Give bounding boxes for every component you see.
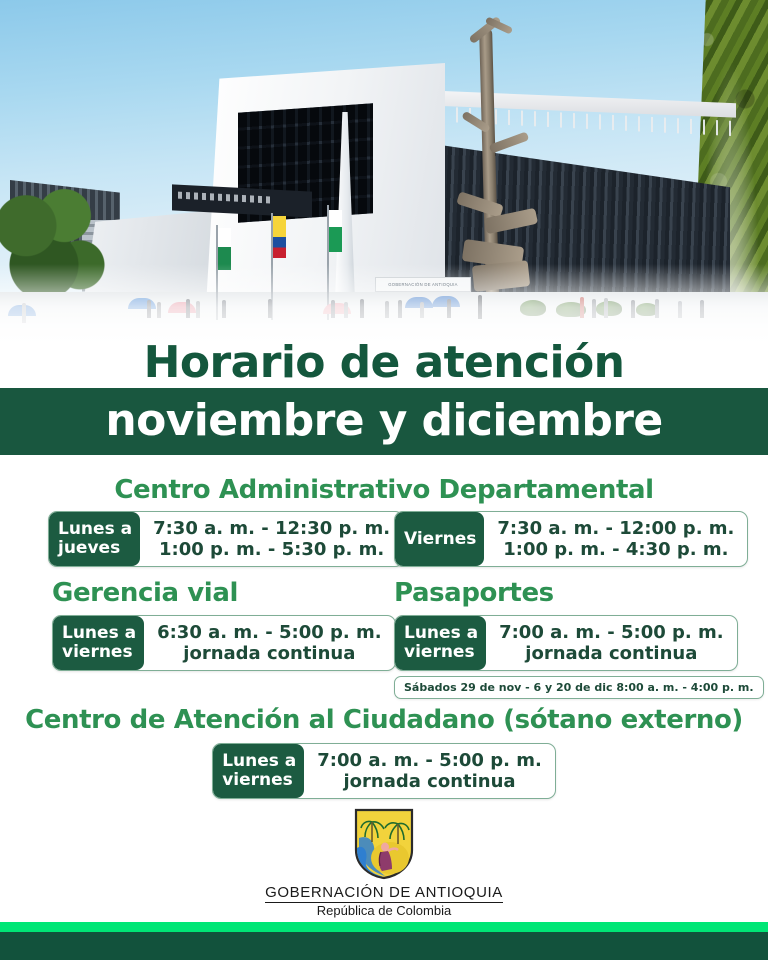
badge-hours-value: 7:00 a. m. - 5:00 p. m. jornada continua [486,616,737,670]
title-line-2: noviembre y diciembre [0,390,768,452]
section-heading-centro-de-atencion-al-ciudadano: Centro de Atención al Ciudadano (sótano … [0,705,768,735]
header-photo: GOBERNACIÓN DE ANTIOQUIA [0,0,768,360]
schedule-badge-centro-atencion-ciudadano: Lunes a viernes 7:00 a. m. - 5:00 p. m. … [212,743,556,799]
schedule-badge-gerencia-vial: Lunes a viernes 6:30 a. m. - 5:00 p. m. … [52,615,396,671]
section-heading-gerencia-vial: Gerencia vial [52,578,396,608]
badge-hours-value: 6:30 a. m. - 5:00 p. m. jornada continua [144,616,395,670]
section-heading-pasaportes: Pasaportes [394,578,764,608]
saturday-note: Sábados 29 de nov - 6 y 20 de dic 8:00 a… [394,676,764,699]
badge-hours-value: 7:30 a. m. - 12:30 p. m. 1:00 p. m. - 5:… [140,512,403,566]
badge-day-label: Lunes a jueves [49,512,140,566]
section-heading-centro-administrativo-departamental: Centro Administrativo Departamental [0,475,768,505]
badge-day-label: Lunes a viernes [395,616,486,670]
section-centro-de-atencion-al-ciudadano: Lunes a viernes 7:00 a. m. - 5:00 p. m. … [0,743,768,799]
badge-hours-value: 7:00 a. m. - 5:00 p. m. jornada continua [304,744,555,798]
badge-day-label: Viernes [395,512,484,566]
flag-colombia [273,216,286,258]
footer-country: República de Colombia [0,903,768,918]
poster-title: Horario de atención [0,338,768,388]
sculpture-branch [456,191,504,218]
schedule-badge-viernes: Viernes 7:30 a. m. - 12:00 p. m. 1:00 p.… [394,511,748,567]
footer-bright-green-bar [0,922,768,932]
badge-day-label: Lunes a viernes [213,744,304,798]
section-pasaportes: Pasaportes Lunes a viernes 7:00 a. m. - … [394,578,764,699]
poster: GOBERNACIÓN DE ANTIOQUIA [0,0,768,960]
section-gerencia-vial: Gerencia vial Lunes a viernes 6:30 a. m.… [52,578,396,671]
schedule-badge-lunes-a-jueves: Lunes a jueves 7:30 a. m. - 12:30 p. m. … [48,511,404,567]
badge-day-label: Lunes a viernes [53,616,144,670]
schedule-badge-pasaportes: Lunes a viernes 7:00 a. m. - 5:00 p. m. … [394,615,738,671]
footer-organization-text: GOBERNACIÓN DE ANTIOQUIA [265,884,503,903]
footer-dark-green-bar [0,932,768,960]
title-line-1: Horario de atención [0,338,768,388]
badge-hours-value: 7:30 a. m. - 12:00 p. m. 1:00 p. m. - 4:… [484,512,747,566]
flag-green [329,210,342,252]
footer-organization: GOBERNACIÓN DE ANTIOQUIA [0,884,768,901]
antioquia-crest-icon [354,808,414,880]
pasaportes-note-wrap: Sábados 29 de nov - 6 y 20 de dic 8:00 a… [394,676,764,699]
